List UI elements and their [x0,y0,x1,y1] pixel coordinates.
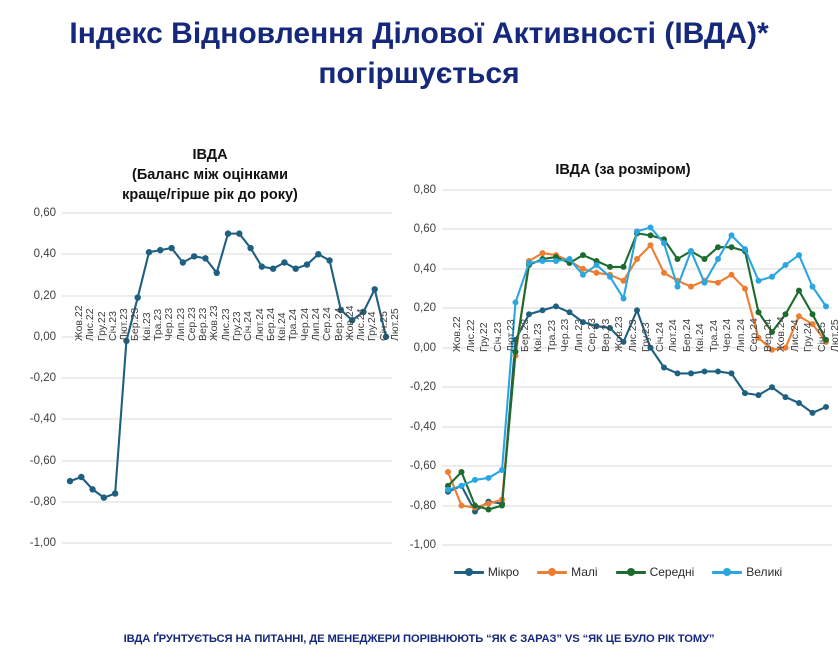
series-layer [62,213,392,543]
data-point [810,410,816,416]
data-point [540,307,546,313]
y-axis-tick-label: -0,80 [30,496,62,508]
data-point [146,249,152,255]
y-axis-tick-label: -0,20 [410,381,442,393]
data-point [540,250,546,256]
x-axis-tick-label: Лис.22 [85,308,96,341]
x-axis-tick-label: Бер.23 [130,308,141,341]
y-axis-tick-label: -1,00 [410,539,442,551]
x-axis-tick-label: Бер.24 [682,319,693,352]
y-axis-tick-label: -0,80 [410,500,442,512]
data-point [553,258,559,264]
data-point [567,256,573,262]
x-axis-tick-label: Жов.22 [74,305,85,341]
y-axis-tick-label: 0,00 [414,342,442,354]
data-point [823,404,829,410]
legend-swatch [454,571,484,574]
x-axis-tick-label: Жов.23 [209,305,220,341]
x-axis-tick-label: Чер.24 [722,318,733,351]
data-point [756,392,762,398]
x-axis-tick-label: Жов.24 [345,305,356,341]
data-point [742,246,748,252]
data-point [742,286,748,292]
x-axis-tick-label: Кві.23 [533,323,544,352]
data-point [715,256,721,262]
data-point [607,274,613,280]
data-point [315,251,321,257]
x-axis-tick-label: Чер.23 [164,307,175,340]
data-point [715,368,721,374]
series-line [70,234,386,498]
legend-item[interactable]: Середні [616,565,695,579]
data-point [191,253,197,259]
data-point [796,400,802,406]
y-axis-tick-label: -0,40 [410,421,442,433]
data-point [621,264,627,270]
x-axis-tick-label: Лип.23 [574,319,585,352]
y-axis-tick-label: 0,40 [34,248,62,260]
data-point [236,230,242,236]
legend-marker-dot [465,568,473,576]
x-axis-tick-label: Жов.22 [452,316,463,352]
y-axis-tick-label: -0,20 [30,372,62,384]
y-axis-tick-label: 0,20 [34,290,62,302]
data-point [326,257,332,263]
data-point [810,311,816,317]
data-point [810,284,816,290]
slide-root: Індекс Відновлення Ділової Активності (І… [0,0,838,659]
legend-item[interactable]: Малі [537,565,597,579]
data-point [472,503,478,509]
data-point [135,294,141,300]
data-point [247,245,253,251]
data-point [729,244,735,250]
data-point [756,309,762,315]
chart-right-axes: 0,800,600,400,200,00-0,20-0,40-0,60-0,80… [442,190,832,545]
data-point [634,256,640,262]
data-point [553,303,559,309]
y-axis-tick-label: 0,60 [414,223,442,235]
data-point [180,259,186,265]
data-point [661,270,667,276]
data-point [634,228,640,234]
data-point [101,494,107,500]
data-point [594,270,600,276]
data-point [661,240,667,246]
data-point [580,272,586,278]
legend-label: Великі [746,565,782,579]
data-point [486,501,492,507]
x-axis-tick-label: Гру.22 [479,322,490,352]
data-point [675,256,681,262]
x-axis-tick-label: Чер.23 [560,318,571,351]
x-axis-tick-label: Гру.22 [97,311,108,341]
data-point [567,309,573,315]
data-point [702,256,708,262]
data-point [729,370,735,376]
data-point [661,365,667,371]
x-axis-tick-label: Бер.24 [266,308,277,341]
data-point [526,260,532,266]
x-axis-tick-label: Лис.23 [628,319,639,352]
data-point [729,232,735,238]
x-axis-tick-label: Вер.23 [601,318,612,351]
x-axis-tick-label: Гру.23 [641,322,652,352]
chart-right-title: ІВДА (за розміром) [398,160,838,180]
x-axis-tick-label: Тра.23 [547,320,558,352]
data-point [621,295,627,301]
data-point [459,503,465,509]
x-axis-tick-label: Лют.24 [668,319,679,352]
data-point [796,288,802,294]
data-point [304,261,310,267]
data-point [459,483,465,489]
data-point [89,486,95,492]
x-axis-tick-label: Лют.24 [255,308,266,341]
x-axis-tick-label: Гру.24 [803,322,814,352]
legend-swatch [537,571,567,574]
data-point [259,263,265,269]
y-axis-tick-label: 0,80 [414,184,442,196]
chart-right-plot: 0,800,600,400,200,00-0,20-0,40-0,60-0,80… [398,190,838,545]
data-point [688,284,694,290]
series-line [448,227,826,489]
series-line [448,233,826,509]
x-axis-tick-label: Бер.23 [520,319,531,352]
data-point [675,370,681,376]
x-axis-tick-label: Лис.22 [466,319,477,352]
x-axis-tick-label: Гру.23 [232,311,243,341]
x-axis-tick-label: Лип.24 [311,308,322,341]
x-axis-tick-label: Сер.24 [322,307,333,341]
legend-marker-dot [627,568,635,576]
x-axis-tick-label: Чер.24 [300,307,311,340]
data-point [648,232,654,238]
data-point [688,248,694,254]
legend-marker-dot [548,568,556,576]
data-point [499,503,505,509]
x-axis-tick-label: Кві.24 [695,323,706,352]
y-axis-tick-label: -0,40 [30,413,62,425]
data-point [472,477,478,483]
data-point [214,270,220,276]
data-point [742,390,748,396]
chart-panel-right: ІВДА (за розміром) 0,800,600,400,200,00-… [398,160,838,585]
x-axis-tick-label: Січ.24 [243,311,254,341]
data-point [270,265,276,271]
x-axis-tick-label: Тра.24 [288,309,299,341]
data-point [729,272,735,278]
x-axis-tick-label: Сер.23 [587,318,598,352]
y-axis-tick-label: -0,60 [410,460,442,472]
legend-label: Мікро [488,565,519,579]
data-point [67,478,73,484]
data-point [459,469,465,475]
data-point [823,303,829,309]
data-point [675,284,681,290]
x-axis-tick-label: Тра.23 [153,309,164,341]
data-point [580,252,586,258]
data-point [796,252,802,258]
legend-swatch [712,571,742,574]
x-axis-tick-label: Лип.23 [176,308,187,341]
data-point [688,370,694,376]
x-axis-tick-label: Січ.25 [379,311,390,341]
data-point [756,278,762,284]
x-axis-tick-label: Лип.24 [736,319,747,352]
x-axis-tick-label: Кві.23 [142,312,153,341]
y-axis-tick-label: 0,20 [414,302,442,314]
y-axis-tick-label: 0,60 [34,207,62,219]
x-axis-tick-label: Січ.23 [108,311,119,341]
data-point [202,255,208,261]
x-axis-tick-label: Січ.23 [493,322,504,352]
chart-left-axes: 0,600,400,200,00-0,20-0,40-0,60-0,80-1,0… [62,213,392,543]
x-axis-tick-label: Лис.23 [221,308,232,341]
data-point [715,280,721,286]
data-point [168,245,174,251]
x-axis-tick-label: Тра.24 [709,320,720,352]
legend-item[interactable]: Мікро [454,565,519,579]
data-point [281,259,287,265]
data-point [634,307,640,313]
x-axis-tick-label: Лют.25 [830,319,838,352]
data-point [783,394,789,400]
data-point [499,467,505,473]
chart-left-title: ІВДА (Баланс між оцінками краще/гірше рі… [10,145,400,205]
data-point [78,474,84,480]
x-axis-tick-label: Вер.24 [334,307,345,340]
x-axis-tick-label: Сер.23 [187,307,198,341]
data-point [486,475,492,481]
data-point [648,224,654,230]
data-point [526,311,532,317]
data-point [540,258,546,264]
chart-legend: МікроМаліСередніВеликі [398,565,838,579]
data-point [594,262,600,268]
x-axis-tick-label: Лют.23 [506,319,517,352]
legend-label: Малі [571,565,597,579]
y-axis-tick-label: 0,40 [414,263,442,275]
chart-panel-left: ІВДА (Баланс між оцінками краще/гірше рі… [10,145,400,615]
y-axis-tick-label: -0,60 [30,455,62,467]
x-axis-tick-label: Жов.24 [776,316,787,352]
legend-swatch [616,571,646,574]
x-axis-tick-label: Січ.25 [817,322,828,352]
data-point [513,299,519,305]
footnote: ІВДА ҐРУНТУЄТЬСЯ НА ПИТАННІ, ДЕ МЕНЕДЖЕР… [0,633,838,645]
data-point [783,262,789,268]
data-point [769,384,775,390]
y-axis-tick-label: 0,00 [34,331,62,343]
x-axis-tick-label: Сер.24 [749,318,760,352]
x-axis-tick-label: Вер.24 [763,318,774,351]
data-point [112,490,118,496]
legend-label: Середні [650,565,695,579]
chart-left-plot: 0,600,400,200,00-0,20-0,40-0,60-0,80-1,0… [10,213,400,543]
data-point [486,507,492,513]
legend-item[interactable]: Великі [712,565,782,579]
y-axis-tick-label: -1,00 [30,537,62,549]
series-layer [442,190,832,545]
x-axis-tick-label: Гру.24 [367,311,378,341]
data-point [225,230,231,236]
data-point [769,274,775,280]
data-point [607,264,613,270]
x-axis-tick-label: Жов.23 [614,316,625,352]
data-point [372,286,378,292]
data-point [715,244,721,250]
page-title: Індекс Відновлення Ділової Активності (І… [0,14,838,93]
legend-marker-dot [723,568,731,576]
data-point [157,247,163,253]
x-axis-tick-label: Лис.24 [790,319,801,352]
x-axis-tick-label: Січ.24 [655,322,666,352]
data-point [293,265,299,271]
data-point [702,280,708,286]
data-point [648,242,654,248]
data-point [702,368,708,374]
data-point [445,469,451,475]
data-point [445,487,451,493]
